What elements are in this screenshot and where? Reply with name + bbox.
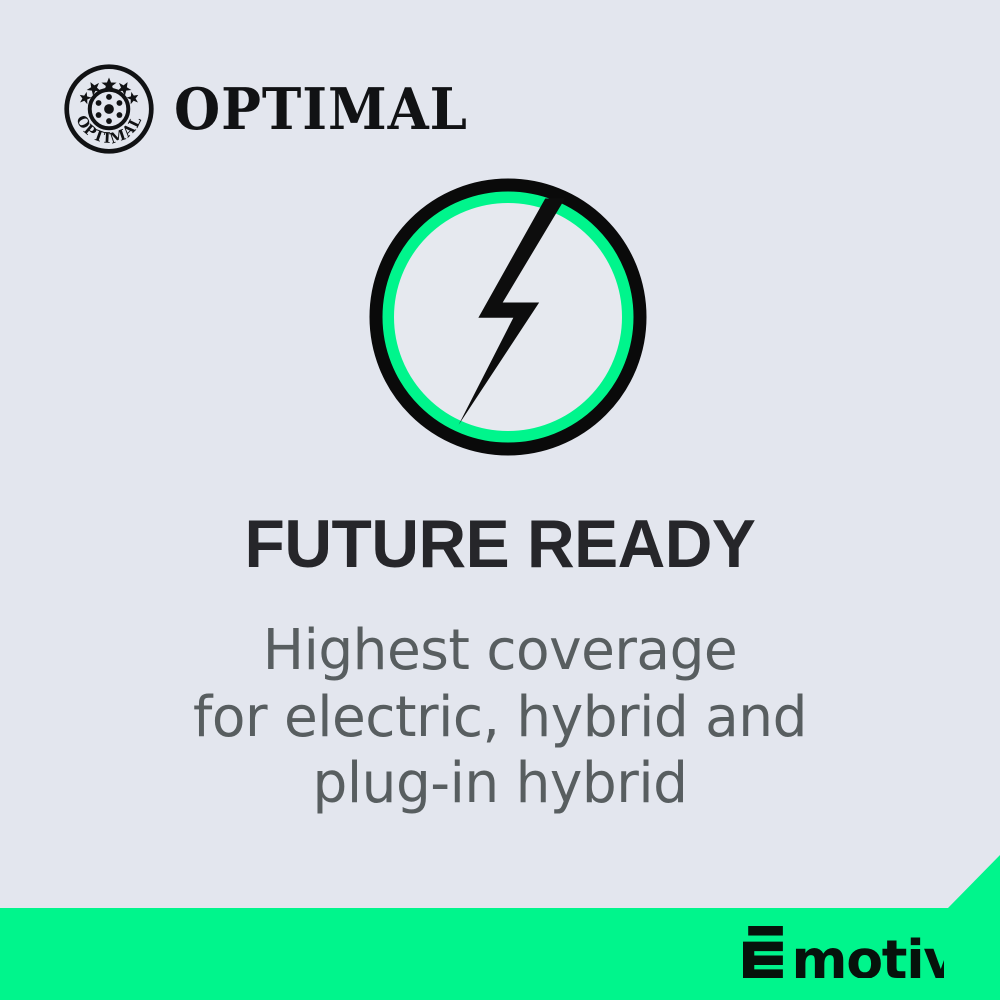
poster-canvas: OPTIMAL OPTIMAL: [0, 0, 1000, 1000]
lightning-bolt-in-circle-icon: [369, 178, 647, 456]
emotive-logo-text: motive: [791, 928, 944, 978]
optimal-seal-icon: OPTIMAL: [62, 62, 156, 156]
subcopy-line-3: plug-in hybrid: [10, 751, 990, 818]
subcopy-line-1: Highest coverage: [10, 618, 990, 685]
brand-header: OPTIMAL OPTIMAL: [62, 62, 490, 156]
hero-icon-container: [369, 178, 647, 456]
subcopy: Highest coverage for electric, hybrid an…: [10, 618, 990, 818]
emotive-logo: motive: [743, 926, 944, 978]
subcopy-line-2: for electric, hybrid and: [10, 685, 990, 752]
message-block: FUTURE READY Highest coverage for electr…: [0, 510, 1000, 818]
brand-wordmark: OPTIMAL: [174, 81, 468, 138]
page-title: FUTURE READY: [15, 510, 985, 578]
footer-bar: motive: [0, 850, 1000, 1000]
